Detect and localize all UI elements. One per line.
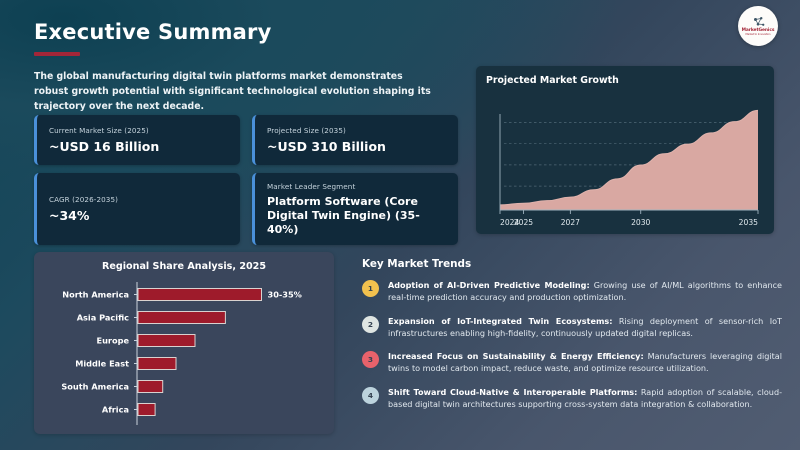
kpi-card-grid: Current Market Size (2025) ~USD 16 Billi… <box>34 115 466 245</box>
trend-badge-2: 2 <box>362 316 379 333</box>
chart-title-growth: Projected Market Growth <box>486 75 764 86</box>
trend-text-1: Adoption of AI-Driven Predictive Modelin… <box>388 279 782 304</box>
svg-text:Asia Pacific: Asia Pacific <box>77 313 129 323</box>
trend-item: 3 Increased Focus on Sustainability & En… <box>362 350 782 375</box>
title-underline-rule <box>34 52 80 56</box>
trend-heading-2: Expansion of IoT-Integrated Twin Ecosyst… <box>388 316 612 326</box>
svg-text:North America: North America <box>62 290 129 300</box>
kpi-card-projected-size: Projected Size (2035) ~USD 310 Billion <box>252 115 458 165</box>
logo-disc: MarketGenics Market to Innovation <box>738 6 778 46</box>
regional-share-panel: Regional Share Analysis, 2025 North Amer… <box>34 252 334 434</box>
trend-item: 4 Shift Toward Cloud-Native & Interopera… <box>362 386 782 411</box>
projected-market-growth-panel: Projected Market Growth 2024202520272030… <box>476 66 774 234</box>
trend-text-2: Expansion of IoT-Integrated Twin Ecosyst… <box>388 315 782 340</box>
kpi-label: CAGR (2026-2035) <box>49 195 229 204</box>
kpi-label: Market Leader Segment <box>267 182 447 191</box>
brand-logo: MarketGenics Market to Innovation <box>730 6 786 46</box>
svg-text:2025: 2025 <box>514 218 533 227</box>
network-node-icon <box>751 16 766 28</box>
kpi-value: ~34% <box>49 208 229 224</box>
kpi-card-cagr: CAGR (2026-2035) ~34% <box>34 173 240 245</box>
kpi-value: ~USD 310 Billion <box>267 139 447 155</box>
svg-text:2030: 2030 <box>631 218 650 227</box>
trend-badge-1: 1 <box>362 280 379 297</box>
kpi-label: Projected Size (2035) <box>267 126 447 135</box>
svg-text:South America: South America <box>61 382 129 392</box>
svg-text:Middle East: Middle East <box>75 359 129 369</box>
regional-share-chart: North America30-35%Asia PacificEuropeMid… <box>44 277 324 429</box>
trend-heading-4: Shift Toward Cloud-Native & Interoperabl… <box>388 387 637 397</box>
trend-text-4: Shift Toward Cloud-Native & Interoperabl… <box>388 386 782 411</box>
page-header: Executive Summary The global manufacturi… <box>34 20 464 114</box>
chart-title-regional: Regional Share Analysis, 2025 <box>44 261 324 272</box>
intro-paragraph: The global manufacturing digital twin pl… <box>34 69 434 114</box>
trend-badge-3: 3 <box>362 351 379 368</box>
logo-tagline: Market to Innovation <box>746 34 771 37</box>
kpi-label: Current Market Size (2025) <box>49 126 229 135</box>
svg-text:30-35%: 30-35% <box>268 290 302 300</box>
trend-heading-1: Adoption of AI-Driven Predictive Modelin… <box>388 280 590 290</box>
kpi-card-market-leader-segment: Market Leader Segment Platform Software … <box>252 173 458 245</box>
trend-item: 1 Adoption of AI-Driven Predictive Model… <box>362 279 782 304</box>
svg-text:2027: 2027 <box>561 218 580 227</box>
key-market-trends: Key Market Trends 1 Adoption of AI-Drive… <box>362 258 782 421</box>
trend-text-3: Increased Focus on Sustainability & Ener… <box>388 350 782 375</box>
trend-item: 2 Expansion of IoT-Integrated Twin Ecosy… <box>362 315 782 340</box>
trends-title: Key Market Trends <box>362 258 782 270</box>
trend-badge-4: 4 <box>362 387 379 404</box>
kpi-value: ~USD 16 Billion <box>49 139 229 155</box>
projected-market-growth-chart: 20242025202720302035 <box>486 90 764 236</box>
svg-text:Africa: Africa <box>102 405 129 415</box>
svg-text:2035: 2035 <box>739 218 758 227</box>
kpi-value: Platform Software (Core Digital Twin Eng… <box>267 195 447 236</box>
trend-heading-3: Increased Focus on Sustainability & Ener… <box>388 351 644 361</box>
kpi-card-current-market-size: Current Market Size (2025) ~USD 16 Billi… <box>34 115 240 165</box>
svg-text:Europe: Europe <box>97 336 130 346</box>
page-title: Executive Summary <box>34 20 464 44</box>
